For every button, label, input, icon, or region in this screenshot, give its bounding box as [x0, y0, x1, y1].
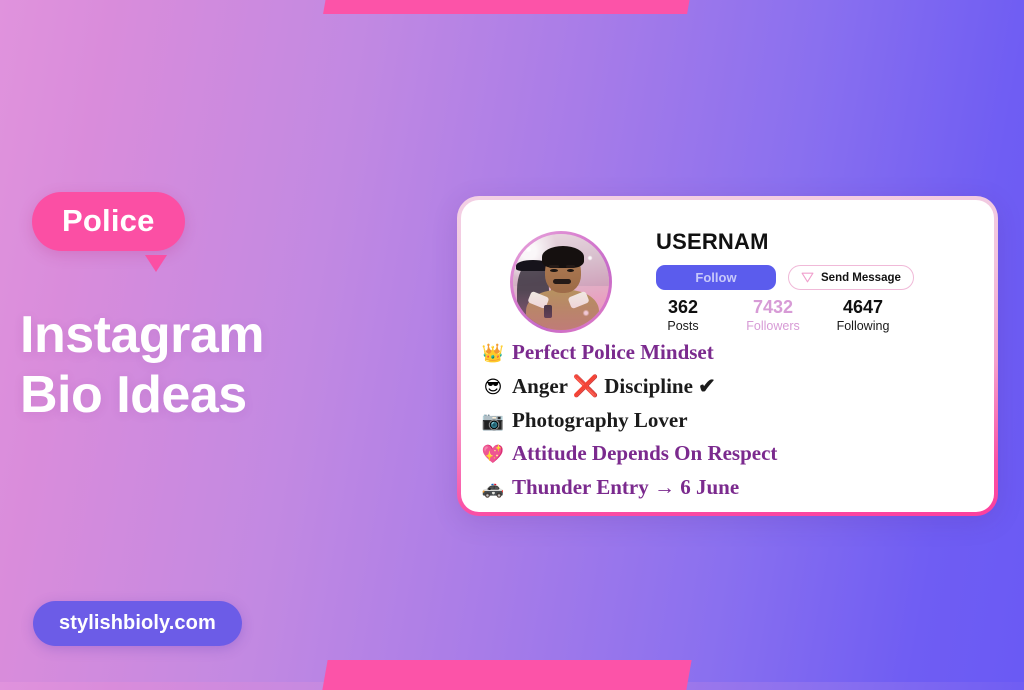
- bio-line: 👑 Perfect Police Mindset: [481, 340, 982, 365]
- send-message-button[interactable]: Send Message: [788, 265, 914, 290]
- category-badge-label: Police: [62, 205, 155, 236]
- category-badge-tail: [145, 255, 167, 272]
- profile-username: USERNAM: [656, 229, 769, 255]
- send-message-label: Send Message: [821, 272, 901, 284]
- profile-stats: 362 Posts 7432 Followers 4647 Following: [656, 297, 890, 334]
- category-badge: Police: [32, 192, 185, 251]
- profile-action-buttons: Follow Send Message: [656, 265, 914, 290]
- camera-emoji: 📷: [481, 411, 505, 432]
- police-car-emoji: 🚓: [481, 478, 505, 499]
- stat-following[interactable]: 4647 Following: [836, 297, 890, 334]
- follow-button[interactable]: Follow: [656, 265, 776, 290]
- stat-posts-label: Posts: [656, 318, 710, 334]
- bio-line: 🚓 Thunder Entry → 6 June: [481, 475, 982, 500]
- bio-line-text: Thunder Entry → 6 June: [512, 475, 739, 500]
- stat-followers[interactable]: 7432 Followers: [746, 297, 800, 334]
- page-title-line-1: Instagram: [20, 305, 420, 365]
- instagram-profile-card: USERNAM Follow Send Message 362 Posts 74…: [457, 196, 998, 516]
- page-title: Instagram Bio Ideas: [20, 305, 420, 426]
- bio-line-text: Attitude Depends On Respect: [512, 441, 777, 466]
- bio-line-text: Anger ❌ Discipline ✔: [512, 374, 716, 399]
- sunglasses-emoji: 😎: [481, 377, 505, 398]
- send-icon: [801, 271, 814, 284]
- bio-line: 💖 Attitude Depends On Respect: [481, 441, 982, 466]
- stat-following-value: 4647: [836, 297, 890, 318]
- left-content-column: Police Instagram Bio Ideas stylishbioly.…: [0, 0, 440, 682]
- stat-posts-value: 362: [656, 297, 710, 318]
- category-badge-pill: Police: [32, 192, 185, 251]
- avatar-ring: [510, 231, 612, 333]
- stat-following-label: Following: [836, 318, 890, 334]
- stat-followers-value: 7432: [746, 297, 800, 318]
- site-url-label: stylishbioly.com: [59, 613, 216, 633]
- page-title-line-2: Bio Ideas: [20, 365, 420, 425]
- site-url-pill[interactable]: stylishbioly.com: [33, 601, 242, 646]
- stat-followers-label: Followers: [746, 318, 800, 334]
- bio-line: 😎 Anger ❌ Discipline ✔: [481, 374, 982, 399]
- avatar[interactable]: [513, 234, 609, 330]
- profile-bio: 👑 Perfect Police Mindset 😎 Anger ❌ Disci…: [481, 340, 982, 509]
- bio-line-text: Photography Lover: [512, 408, 688, 433]
- sparkling-heart-emoji: 💖: [481, 444, 505, 465]
- stat-posts: 362 Posts: [656, 297, 710, 334]
- crown-emoji: 👑: [481, 343, 505, 364]
- bio-line-text: Perfect Police Mindset: [512, 340, 714, 365]
- bio-line: 📷 Photography Lover: [481, 408, 982, 433]
- profile-card-body: USERNAM Follow Send Message 362 Posts 74…: [461, 200, 994, 512]
